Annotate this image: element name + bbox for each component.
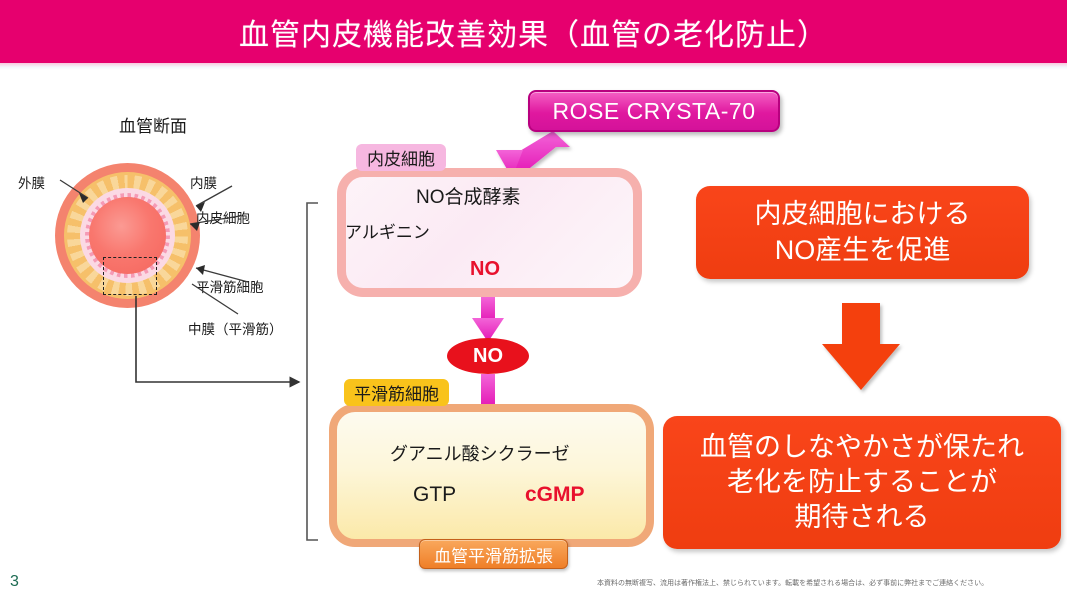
vessel-zoom-region-marker xyxy=(103,257,157,295)
copyright-disclaimer: 本資料の無断複写、流用は著作権法上、禁じられています。転載を希望される場合は、必… xyxy=(597,578,1062,588)
conclusion-box-1: 内皮細胞における NO産生を促進 xyxy=(696,186,1029,279)
smooth-muscle-cell-box xyxy=(329,404,654,547)
guanylate-cyclase-label: グアニル酸シクラーゼ xyxy=(390,440,570,466)
gtp-label: GTP xyxy=(413,483,456,507)
title-bar: 血管内皮機能改善効果（血管の老化防止） xyxy=(0,0,1067,63)
page-title: 血管内皮機能改善効果（血管の老化防止） xyxy=(0,0,1067,63)
slide-canvas: 血管内皮機能改善効果（血管の老化防止） 血管断面 外膜 内膜 内皮細胞 平滑筋細… xyxy=(0,0,1067,600)
conclusion-2-line-2: 老化を防止することが xyxy=(727,467,997,497)
title-bar-underglow xyxy=(0,63,1067,70)
zoom-region-connector xyxy=(136,296,299,382)
conclusion-1-line-1: 内皮細胞における xyxy=(755,199,971,229)
page-number: 3 xyxy=(10,573,19,591)
vessel-cross-section xyxy=(55,163,200,308)
conclusion-1-line-2: NO産生を促進 xyxy=(775,235,951,265)
conclusion-2-line-1: 血管のしなやかさが保たれ xyxy=(700,432,1024,462)
pathway-bracket xyxy=(307,203,318,540)
conclusion-box-2: 血管のしなやかさが保たれ 老化を防止することが 期待される xyxy=(663,416,1061,549)
vasodilation-outcome-box: 血管平滑筋拡張 xyxy=(419,539,568,569)
vessel-label-intima: 内膜 xyxy=(190,172,217,192)
vessel-label-media: 中膜（平滑筋） xyxy=(188,318,283,338)
vessel-label-adventitia: 外膜 xyxy=(18,172,45,192)
cgmp-label: cGMP xyxy=(525,483,585,507)
nos-enzyme-label: NO合成酵素 xyxy=(416,182,521,209)
no-product-label: NO xyxy=(470,258,500,281)
no-messenger-ellipse: NO xyxy=(447,338,529,374)
arrow-endothelium-to-no-ellipse xyxy=(472,297,504,342)
conclusion-2-line-3: 期待される xyxy=(795,502,930,532)
vessel-label-smooth-muscle-cell: 平滑筋細胞 xyxy=(196,276,264,296)
endothelial-cell-tab: 内皮細胞 xyxy=(356,144,446,171)
product-badge[interactable]: ROSE CRYSTA-70 xyxy=(528,90,780,132)
arginine-label: アルギニン xyxy=(345,218,430,243)
arrow-conclusion-down xyxy=(822,303,900,390)
vessel-label-endothelial-cell: 内皮細胞 xyxy=(196,207,250,227)
vessel-diagram-title: 血管断面 xyxy=(78,112,228,137)
smooth-muscle-cell-tab: 平滑筋細胞 xyxy=(344,379,449,406)
